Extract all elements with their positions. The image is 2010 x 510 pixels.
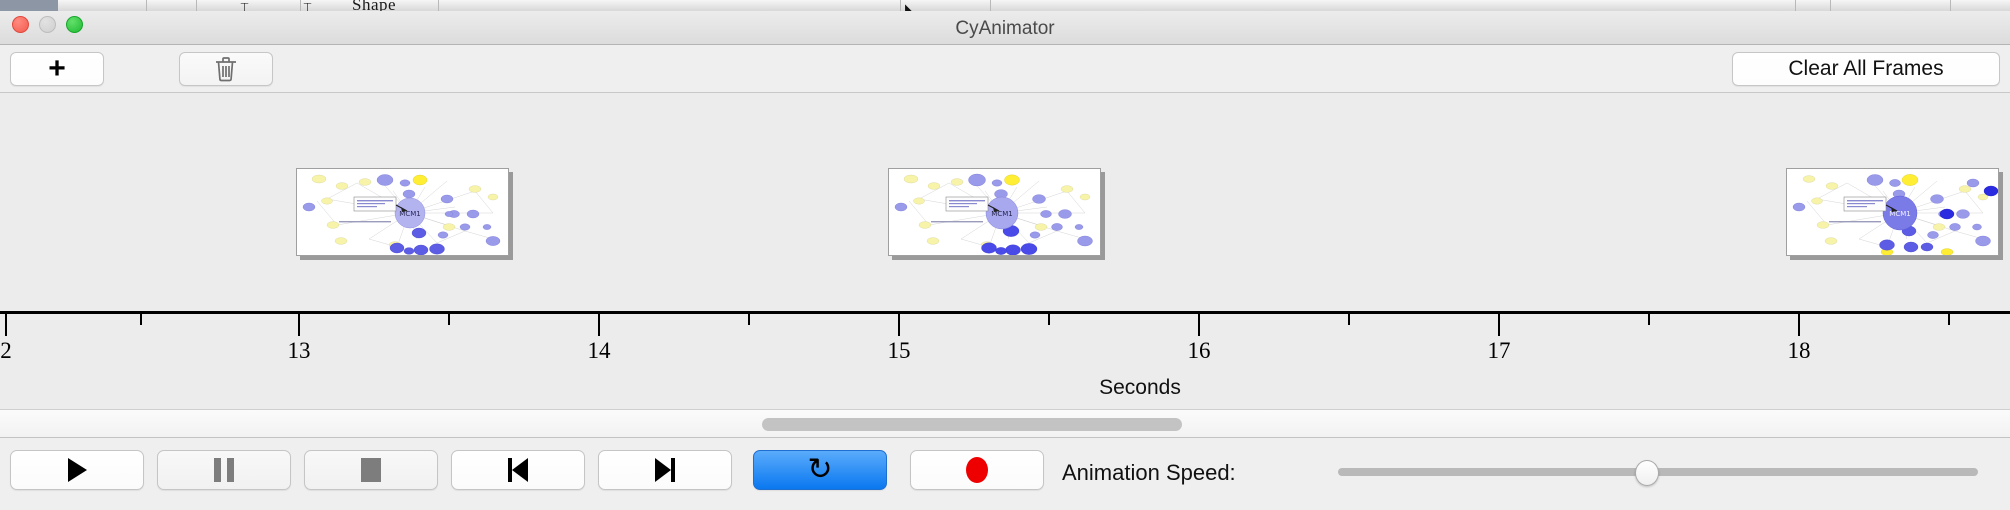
axis-tick-major [1198,313,1200,336]
window-title: CyAnimator [0,18,2010,40]
frame-thumbnail: MCM1 [888,168,1101,256]
frame-strip: MCM1 [0,93,2010,313]
axis-tick-minor [748,313,750,325]
axis-title: Seconds [0,376,2010,400]
add-frame-button[interactable]: + [10,52,104,86]
skip-forward-icon [655,458,675,482]
axis-tick-major [1498,313,1500,336]
axis-tick-minor [140,313,142,325]
axis-tick-label: 14 [588,338,611,364]
frame-thumbnail: MCM1 [296,168,509,256]
axis-tick-minor [1348,313,1350,325]
timeline-frame[interactable]: MCM1 [888,168,1103,258]
delete-frame-button[interactable] [179,52,273,86]
record-icon [966,457,988,483]
timeline-panel[interactable]: MCM1 [0,93,2010,410]
playback-controls: ↻ Animation Speed: [0,438,2010,510]
skip-to-end-button[interactable] [598,450,732,490]
axis-tick-label: 15 [888,338,911,364]
background-window-label: Shape [352,0,396,11]
timeline-frame[interactable]: MCM1 [1786,168,2001,258]
axis-tick-minor [1048,313,1050,325]
frame-thumbnail: MCM1 [1786,168,1999,256]
axis-tick-minor [1948,313,1950,325]
stop-icon [361,458,381,482]
axis-tick-major [598,313,600,336]
timeline-axis-thickness [0,312,2010,314]
trash-icon [213,55,239,83]
skip-to-start-button[interactable] [451,450,585,490]
animation-speed-label: Animation Speed: [1062,460,1236,486]
axis-tick-label: 17 [1488,338,1511,364]
axis-tick-label: 16 [1188,338,1211,364]
axis-tick-label: 2 [0,338,12,364]
timeline-scrollbar[interactable] [0,410,2010,438]
network-graph-thumbnail: MCM1 [297,169,509,256]
axis-title-text: Seconds [1099,376,1181,399]
play-button[interactable] [10,450,144,490]
title-bar: CyAnimator [0,11,2010,45]
axis-tick-major [898,313,900,336]
record-button[interactable] [910,450,1044,490]
frames-toolbar: + Clear All Frames [0,45,2010,93]
pause-button[interactable] [157,450,291,490]
scrollbar-thumb[interactable] [762,418,1182,431]
timeline-frame[interactable]: MCM1 [296,168,511,258]
clear-all-frames-label: Clear All Frames [1788,57,1943,81]
axis-tick-minor [448,313,450,325]
background-window-strip: ⌶ ⌶ ◣ Shape [0,0,2010,11]
axis-tick-major [5,313,7,336]
loop-icon: ↻ [807,455,832,485]
skip-back-icon [508,458,528,482]
loop-button[interactable]: ↻ [753,450,887,490]
axis-tick-major [1798,313,1800,336]
clear-all-frames-button[interactable]: Clear All Frames [1732,52,2000,86]
axis-tick-major [298,313,300,336]
network-graph-thumbnail: MCM1 [889,169,1101,256]
axis-tick-minor [1648,313,1650,325]
animation-speed-slider-thumb[interactable] [1635,460,1659,486]
stop-button[interactable] [304,450,438,490]
play-icon [68,458,87,482]
network-graph-thumbnail: MCM1 [1787,169,1999,256]
plus-icon: + [48,54,66,84]
axis-tick-label: 13 [288,338,311,364]
cyanimator-window: ⌶ ⌶ ◣ Shape CyAnimator + Clear All Frame… [0,0,2010,510]
axis-tick-label: 18 [1788,338,1811,364]
pause-icon [214,458,234,482]
